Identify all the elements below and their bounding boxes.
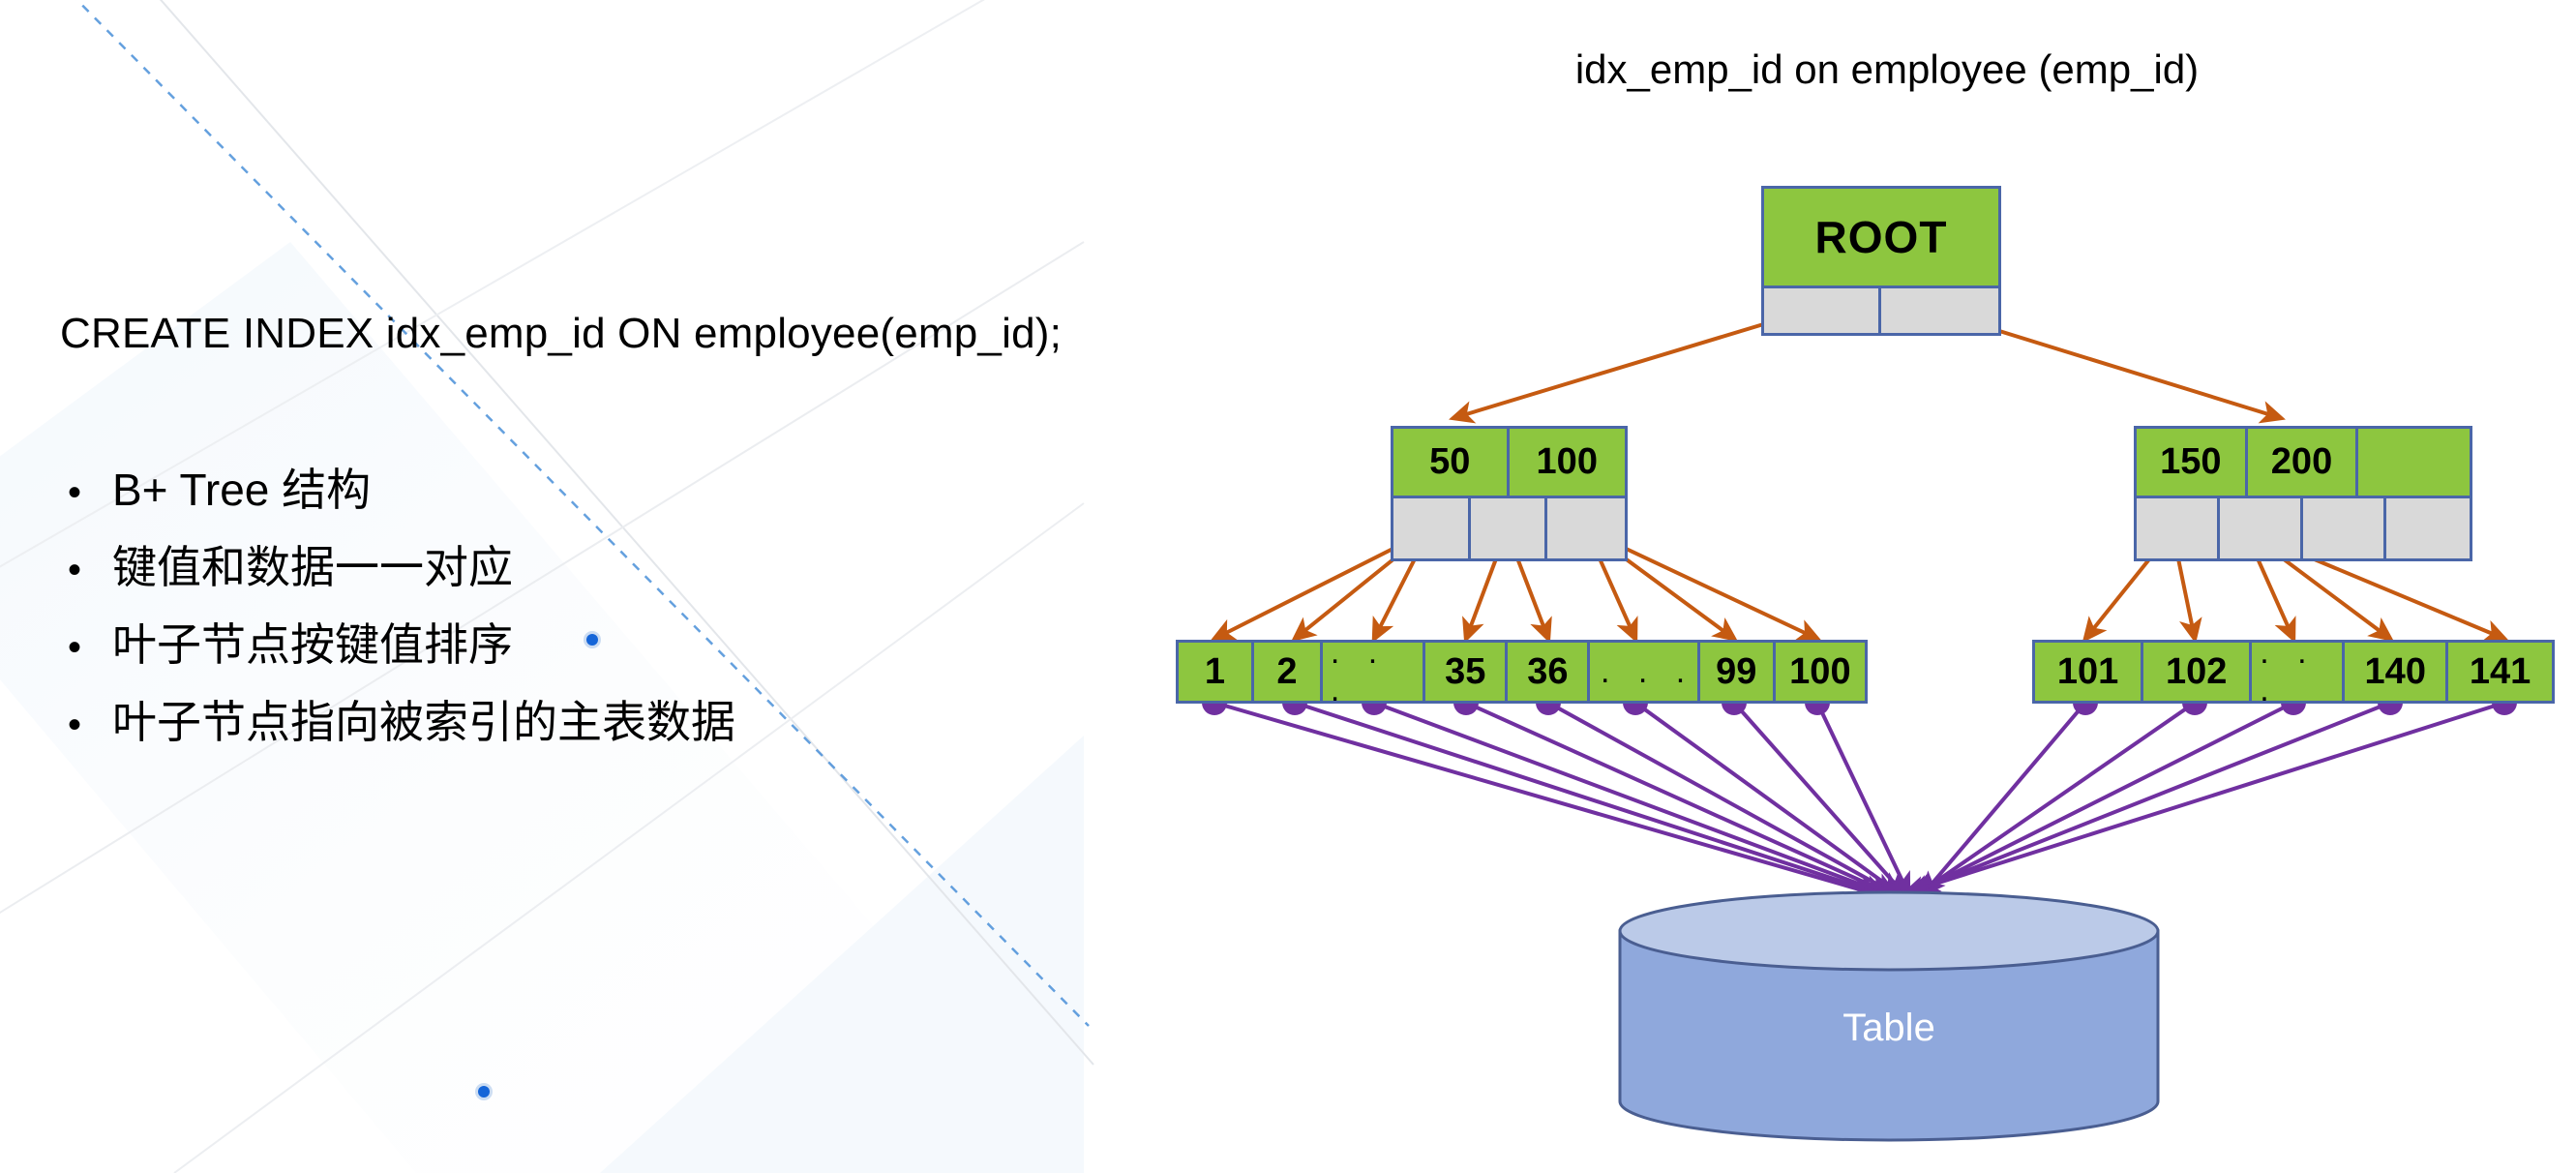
btree-internal-node-right[interactable]: 150 200 — [2134, 426, 2472, 561]
btree-diagram: idx_emp_id on employee (emp_id) — [0, 0, 2576, 1173]
internal-right-pointer-cell[interactable] — [2220, 496, 2303, 558]
internal-left-pointer-cell[interactable] — [1471, 496, 1548, 558]
internal-right-key-cell: 200 — [2248, 429, 2359, 496]
internal-left-key-cell: 100 — [1510, 429, 1626, 496]
root-pointer-cell[interactable] — [1881, 286, 1998, 333]
leaf-right-cell: 141 — [2448, 643, 2552, 701]
connector-layer — [0, 0, 2576, 1173]
leaf-left-cell: 35 — [1425, 643, 1508, 701]
leaf-left-cell-ellipsis: . . . — [1590, 643, 1699, 701]
slide-canvas: CREATE INDEX idx_emp_id ON employee(emp_… — [0, 0, 2576, 1173]
internal-left-pointer-cell[interactable] — [1547, 496, 1625, 558]
leaf-left-cell: 1 — [1179, 643, 1254, 701]
leaf-left-cell: 2 — [1254, 643, 1323, 701]
leaf-left-cell: 99 — [1700, 643, 1776, 701]
leaf-right-cell-ellipsis: . . . — [2252, 643, 2345, 701]
internal-right-pointer-cell[interactable] — [2386, 496, 2470, 558]
leaf-right-cell: 140 — [2345, 643, 2448, 701]
leaf-right-cell: 101 — [2035, 643, 2143, 701]
btree-root-node[interactable]: ROOT — [1761, 186, 2001, 336]
root-pointer-cell[interactable] — [1764, 286, 1881, 333]
internal-right-key-cell-empty — [2358, 429, 2470, 496]
root-key-cell: ROOT — [1764, 189, 1998, 286]
internal-right-pointer-cell[interactable] — [2303, 496, 2386, 558]
internal-left-key-cell: 50 — [1393, 429, 1510, 496]
leaf-left-cell: 100 — [1776, 643, 1865, 701]
btree-leaf-node-right[interactable]: 101 102 . . . 140 141 — [2032, 640, 2555, 704]
internal-right-key-cell: 150 — [2137, 429, 2248, 496]
btree-internal-node-left[interactable]: 50 100 — [1391, 426, 1628, 561]
internal-right-pointer-cell[interactable] — [2137, 496, 2220, 558]
internal-left-pointer-cell[interactable] — [1393, 496, 1471, 558]
leaf-left-cell-ellipsis: . . . — [1323, 643, 1425, 701]
leaf-right-cell: 102 — [2143, 643, 2252, 701]
table-label: Table — [1618, 1007, 2160, 1050]
leaf-left-cell: 36 — [1508, 643, 1590, 701]
btree-leaf-node-left[interactable]: 1 2 . . . 35 36 . . . 99 100 — [1176, 640, 1868, 704]
